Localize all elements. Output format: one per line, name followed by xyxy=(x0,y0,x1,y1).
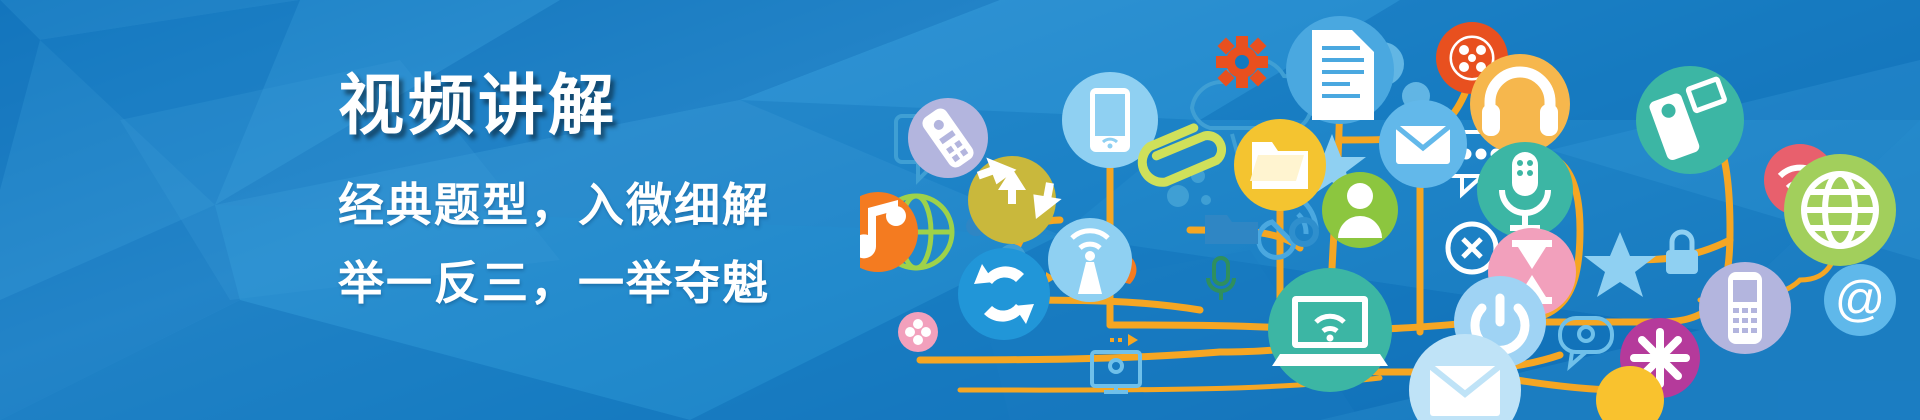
subtitle-line-1: 经典题型，入微细解 xyxy=(338,182,898,228)
broadcast-tower-icon xyxy=(1048,218,1132,302)
lock-icon xyxy=(1666,232,1698,274)
microphone-outline-icon xyxy=(1208,258,1234,300)
gear-icon xyxy=(1216,36,1268,88)
promo-banner: 视频讲解 经典题型，入微细解 举一反三，一举夺魁 .br { fill:none… xyxy=(0,0,1920,420)
flower-icon xyxy=(898,312,938,352)
microphone-icon xyxy=(1477,142,1573,238)
at-sign-icon: @ xyxy=(1824,264,1896,336)
folder-icon xyxy=(1234,119,1326,211)
recycle-icon xyxy=(968,150,1065,244)
remote-control-icon xyxy=(908,98,988,178)
folder-outline-icon xyxy=(1205,215,1258,244)
flip-phone-icon xyxy=(1699,262,1791,354)
envelope-mid-icon xyxy=(1379,100,1467,188)
technology-network-tree-graphic: .br { fill:none; stroke:#f5a623; stroke-… xyxy=(860,0,1920,420)
subtitle-line-2: 举一反三，一举夺魁 xyxy=(338,260,898,306)
globe-grid-icon xyxy=(1784,154,1896,266)
document-icon xyxy=(1286,16,1394,124)
headline-block: 视频讲解 经典题型，入微细解 举一反三，一举夺魁 xyxy=(338,72,898,306)
user-avatar-icon xyxy=(1322,172,1398,248)
laptop-wifi-icon xyxy=(1268,268,1392,392)
svg-text:@: @ xyxy=(1835,271,1886,327)
page-title: 视频讲解 xyxy=(338,72,898,138)
camcorder-icon xyxy=(1636,66,1744,174)
headphones-icon xyxy=(1470,54,1570,154)
refresh-arrows-icon xyxy=(958,248,1050,340)
star-icon xyxy=(1584,232,1656,297)
